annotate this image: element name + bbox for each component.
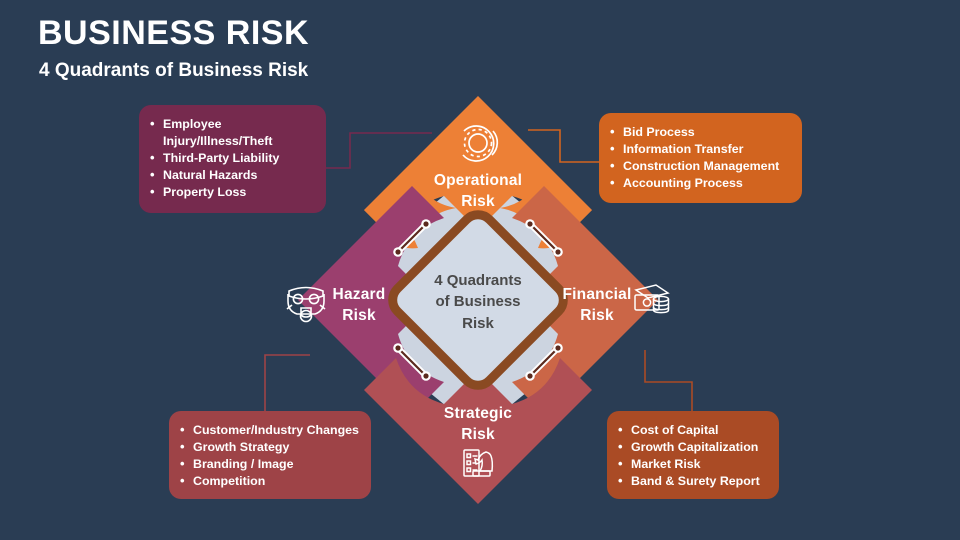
callout-hazard-risk[interactable]: Employee Injury/Illness/TheftThird-Party… bbox=[139, 105, 326, 213]
list-item: Information Transfer bbox=[609, 141, 790, 158]
list-item: Market Risk bbox=[617, 456, 767, 473]
quadrant-label-operational: Operational Risk bbox=[418, 171, 538, 212]
slide-canvas: BUSINESS RISK 4 Quadrants of Business Ri… bbox=[0, 0, 960, 540]
callout-financial-risk[interactable]: Cost of CapitalGrowth CapitalizationMark… bbox=[607, 411, 779, 499]
list-item: Accounting Process bbox=[609, 175, 790, 192]
list-item: Natural Hazards bbox=[149, 167, 314, 184]
center-label: 4 Quadrants of Business Risk bbox=[408, 270, 548, 334]
list-item: Branding / Image bbox=[179, 456, 359, 473]
list-item: Band & Surety Report bbox=[617, 473, 767, 490]
list-item: Cost of Capital bbox=[617, 422, 767, 439]
callout-strategic-list: Customer/Industry ChangesGrowth Strategy… bbox=[179, 422, 359, 490]
list-item: Growth Capitalization bbox=[617, 439, 767, 456]
list-item: Customer/Industry Changes bbox=[179, 422, 359, 439]
connector-line-strategic bbox=[265, 355, 310, 411]
callout-hazard-list: Employee Injury/Illness/TheftThird-Party… bbox=[149, 116, 314, 202]
quadrant-label-hazard: Hazard Risk bbox=[318, 285, 400, 326]
list-item: Third-Party Liability bbox=[149, 150, 314, 167]
callout-financial-list: Cost of CapitalGrowth CapitalizationMark… bbox=[617, 422, 767, 490]
callout-operational-risk[interactable]: Bid ProcessInformation TransferConstruct… bbox=[599, 113, 802, 203]
list-item: Competition bbox=[179, 473, 359, 490]
quadrant-label-financial: Financial Risk bbox=[556, 285, 638, 326]
connector-line-financial bbox=[645, 350, 692, 411]
list-item: Growth Strategy bbox=[179, 439, 359, 456]
list-item: Construction Management bbox=[609, 158, 790, 175]
list-item: Property Loss bbox=[149, 184, 314, 201]
callout-operational-list: Bid ProcessInformation TransferConstruct… bbox=[609, 124, 790, 192]
callout-strategic-risk[interactable]: Customer/Industry ChangesGrowth Strategy… bbox=[169, 411, 371, 499]
quadrant-label-strategic: Strategic Risk bbox=[418, 404, 538, 445]
list-item: Employee Injury/Illness/Theft bbox=[149, 116, 314, 150]
list-item: Bid Process bbox=[609, 124, 790, 141]
